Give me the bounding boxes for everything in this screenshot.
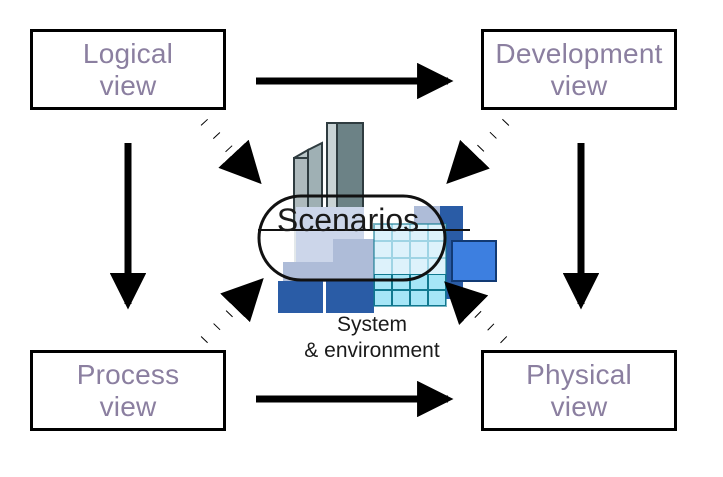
arrow-process-to-scenarios — [204, 284, 258, 340]
process-view-line2: view — [77, 391, 180, 422]
development-view-line2: view — [495, 70, 662, 101]
block-deep-center — [326, 281, 374, 313]
system-illustration — [258, 123, 496, 313]
square-bright-blue — [452, 241, 496, 281]
logical-view-line1: Logical — [83, 38, 173, 69]
system-environment-caption: System & environment — [262, 312, 482, 365]
process-view-box[interactable]: Process view — [30, 350, 226, 431]
system-caption-line2: & environment — [262, 338, 482, 364]
diagram-canvas: Logical view Development view Process vi… — [0, 0, 723, 477]
development-view-box[interactable]: Development view — [481, 29, 677, 110]
block-deep-left — [278, 281, 323, 313]
physical-view-line1: Physical — [526, 359, 632, 390]
arrow-logical-to-scenarios — [204, 122, 256, 178]
system-caption-line1: System — [262, 312, 482, 338]
logical-view-line2: view — [83, 70, 173, 101]
physical-view-line2: view — [526, 391, 632, 422]
development-view-line1: Development — [495, 38, 662, 69]
arrow-development-to-scenarios — [452, 122, 506, 178]
process-view-line1: Process — [77, 359, 180, 390]
physical-view-box[interactable]: Physical view — [481, 350, 677, 431]
logical-view-box[interactable]: Logical view — [30, 29, 226, 110]
